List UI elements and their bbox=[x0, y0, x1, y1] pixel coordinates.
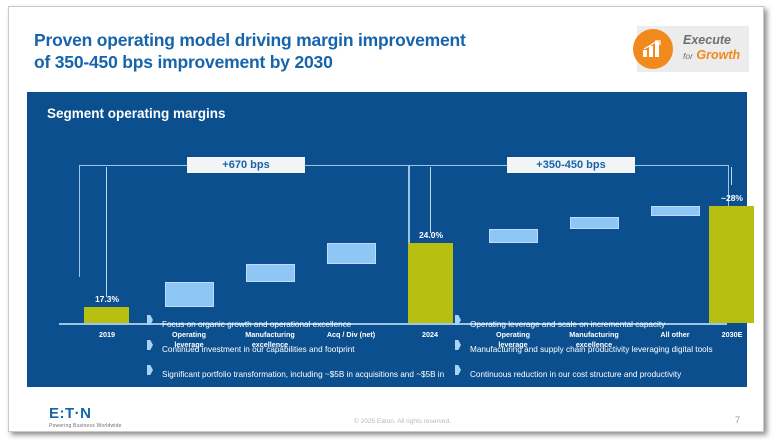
list-item: Focus on organic growth and operational … bbox=[147, 314, 457, 332]
bullet-text: Operating leverage and scale on incremen… bbox=[470, 320, 665, 329]
bps-callout-350-450: +350-450 bps bbox=[507, 157, 635, 173]
eaton-wordmark: E:T·N bbox=[49, 405, 122, 422]
page-title-line-1: Proven operating model driving margin im… bbox=[34, 29, 614, 51]
chevron-right-icon bbox=[147, 365, 153, 375]
page-title-line-2: of 350-450 bps improvement by 2030 bbox=[34, 51, 614, 73]
bullet-column-left: Focus on organic growth and operational … bbox=[147, 314, 457, 407]
list-item: Continuous reduction in our cost structu… bbox=[455, 364, 745, 382]
chevron-right-icon bbox=[147, 340, 153, 350]
bullet-text: Focus on organic growth and operational … bbox=[162, 320, 351, 329]
chevron-right-icon bbox=[147, 315, 153, 325]
list-item: Continued investment in our capabilities… bbox=[147, 339, 457, 357]
logo-word-growth: Growth bbox=[696, 48, 740, 62]
bullet-text: Significant portfolio transformation, in… bbox=[162, 370, 444, 397]
bar-manufacturing-excellence-1 bbox=[246, 264, 295, 282]
bullet-column-right: Operating leverage and scale on incremen… bbox=[455, 314, 745, 389]
logo-circle bbox=[633, 29, 673, 69]
page-title: Proven operating model driving margin im… bbox=[34, 29, 614, 74]
logo-word-execute: Execute bbox=[683, 33, 740, 48]
leader-line-2030e bbox=[731, 167, 732, 185]
bar-2030e bbox=[709, 206, 754, 323]
eaton-tagline: Powering Business Worldwide bbox=[49, 423, 122, 429]
content-panel: Segment operating margins +670 bps +350-… bbox=[27, 92, 747, 387]
bullet-section: Focus on organic growth and operational … bbox=[27, 314, 747, 386]
list-item: Significant portfolio transformation, in… bbox=[147, 364, 457, 400]
bar-operating-leverage-1 bbox=[165, 282, 214, 307]
panel-title: Segment operating margins bbox=[47, 106, 226, 121]
logo-word-for: for bbox=[683, 51, 693, 61]
leader-line-2024 bbox=[430, 167, 431, 233]
waterfall-chart: +670 bps +350-450 bps 17.3% 24.0% ~28% bbox=[27, 140, 747, 335]
bar-chart-icon bbox=[642, 40, 664, 58]
bullet-text: Continuous reduction in our cost structu… bbox=[470, 370, 681, 379]
chevron-right-icon bbox=[455, 340, 461, 350]
bps-callout-670: +670 bps bbox=[187, 157, 305, 173]
copyright-text: © 2025 Eaton. All rights reserved. bbox=[354, 418, 451, 425]
eaton-logo: E:T·N Powering Business Worldwide bbox=[49, 405, 122, 429]
bar-manufacturing-excellence-2 bbox=[570, 217, 619, 229]
chevron-right-icon bbox=[455, 315, 461, 325]
bar-2024 bbox=[408, 243, 453, 323]
bar-all-other bbox=[651, 206, 700, 216]
value-label-2024: 24.0% bbox=[405, 230, 457, 240]
logo-wordmark: Execute for Growth bbox=[683, 33, 740, 63]
chevron-right-icon bbox=[455, 365, 461, 375]
list-item: Manufacturing and supply chain productiv… bbox=[455, 339, 745, 357]
page-number: 7 bbox=[735, 415, 740, 425]
leader-line-2019 bbox=[106, 167, 107, 297]
value-label-2030e: ~28% bbox=[706, 193, 758, 203]
bullet-text: Continued investment in our capabilities… bbox=[162, 345, 355, 354]
bullet-text: Manufacturing and supply chain productiv… bbox=[470, 345, 713, 354]
list-item: Operating leverage and scale on incremen… bbox=[455, 314, 745, 332]
bar-operating-leverage-2 bbox=[489, 229, 538, 243]
bar-acq-div-net bbox=[327, 243, 376, 264]
slide-frame: Proven operating model driving margin im… bbox=[8, 6, 764, 432]
execute-for-growth-logo: Execute for Growth bbox=[637, 26, 749, 72]
value-label-2019: 17.3% bbox=[81, 294, 133, 304]
